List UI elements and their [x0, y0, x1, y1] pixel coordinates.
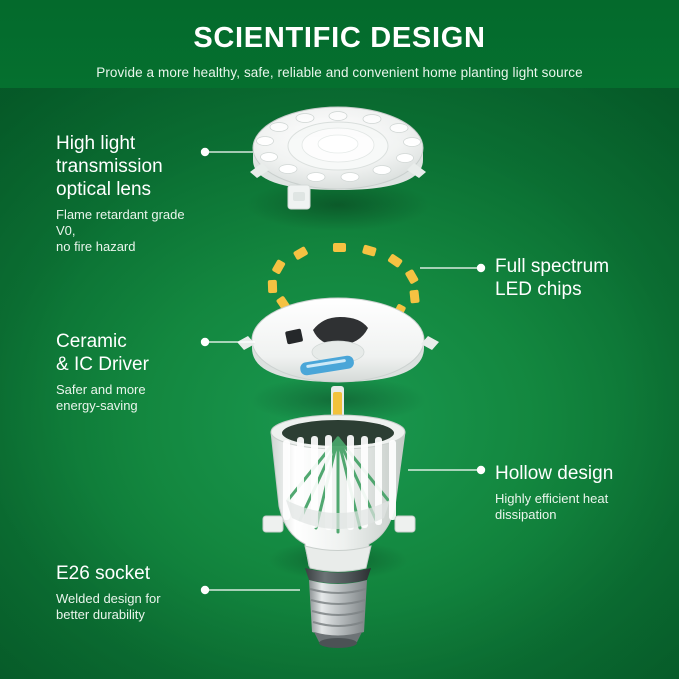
part-screw-base — [305, 568, 371, 648]
callout-e26-socket: E26 socket Welded design for better dura… — [56, 562, 216, 623]
callout-led-chips: Full spectrum LED chips — [495, 255, 660, 301]
callout-e26-socket-title: E26 socket — [56, 562, 216, 585]
callout-ceramic-ic-driver-subtitle: Safer and more energy-saving — [56, 382, 206, 414]
callout-led-chips-title: Full spectrum LED chips — [495, 255, 660, 301]
poster: SCIENTIFIC DESIGN Provide a more healthy… — [0, 0, 679, 679]
callout-hollow-design-title: Hollow design — [495, 462, 670, 485]
callout-optical-lens: High light transmission optical lens Fla… — [56, 132, 206, 255]
callout-optical-lens-subtitle: Flame retardant grade V0, no fire hazard — [56, 207, 206, 255]
callout-ceramic-ic-driver: Ceramic & IC Driver Safer and more energ… — [56, 330, 206, 414]
callout-ceramic-ic-driver-title: Ceramic & IC Driver — [56, 330, 206, 376]
callout-hollow-design-subtitle: Highly efficient heat dissipation — [495, 491, 670, 523]
header-banner: SCIENTIFIC DESIGN Provide a more healthy… — [0, 0, 679, 88]
callout-optical-lens-title: High light transmission optical lens — [56, 132, 206, 201]
callout-hollow-design: Hollow design Highly efficient heat diss… — [495, 462, 670, 523]
page-title: SCIENTIFIC DESIGN — [0, 22, 679, 55]
part-lens-cover — [246, 107, 430, 231]
callout-e26-socket-subtitle: Welded design for better durability — [56, 591, 216, 623]
part-heat-sink — [263, 415, 415, 580]
page-subtitle: Provide a more healthy, safe, reliable a… — [0, 65, 679, 80]
